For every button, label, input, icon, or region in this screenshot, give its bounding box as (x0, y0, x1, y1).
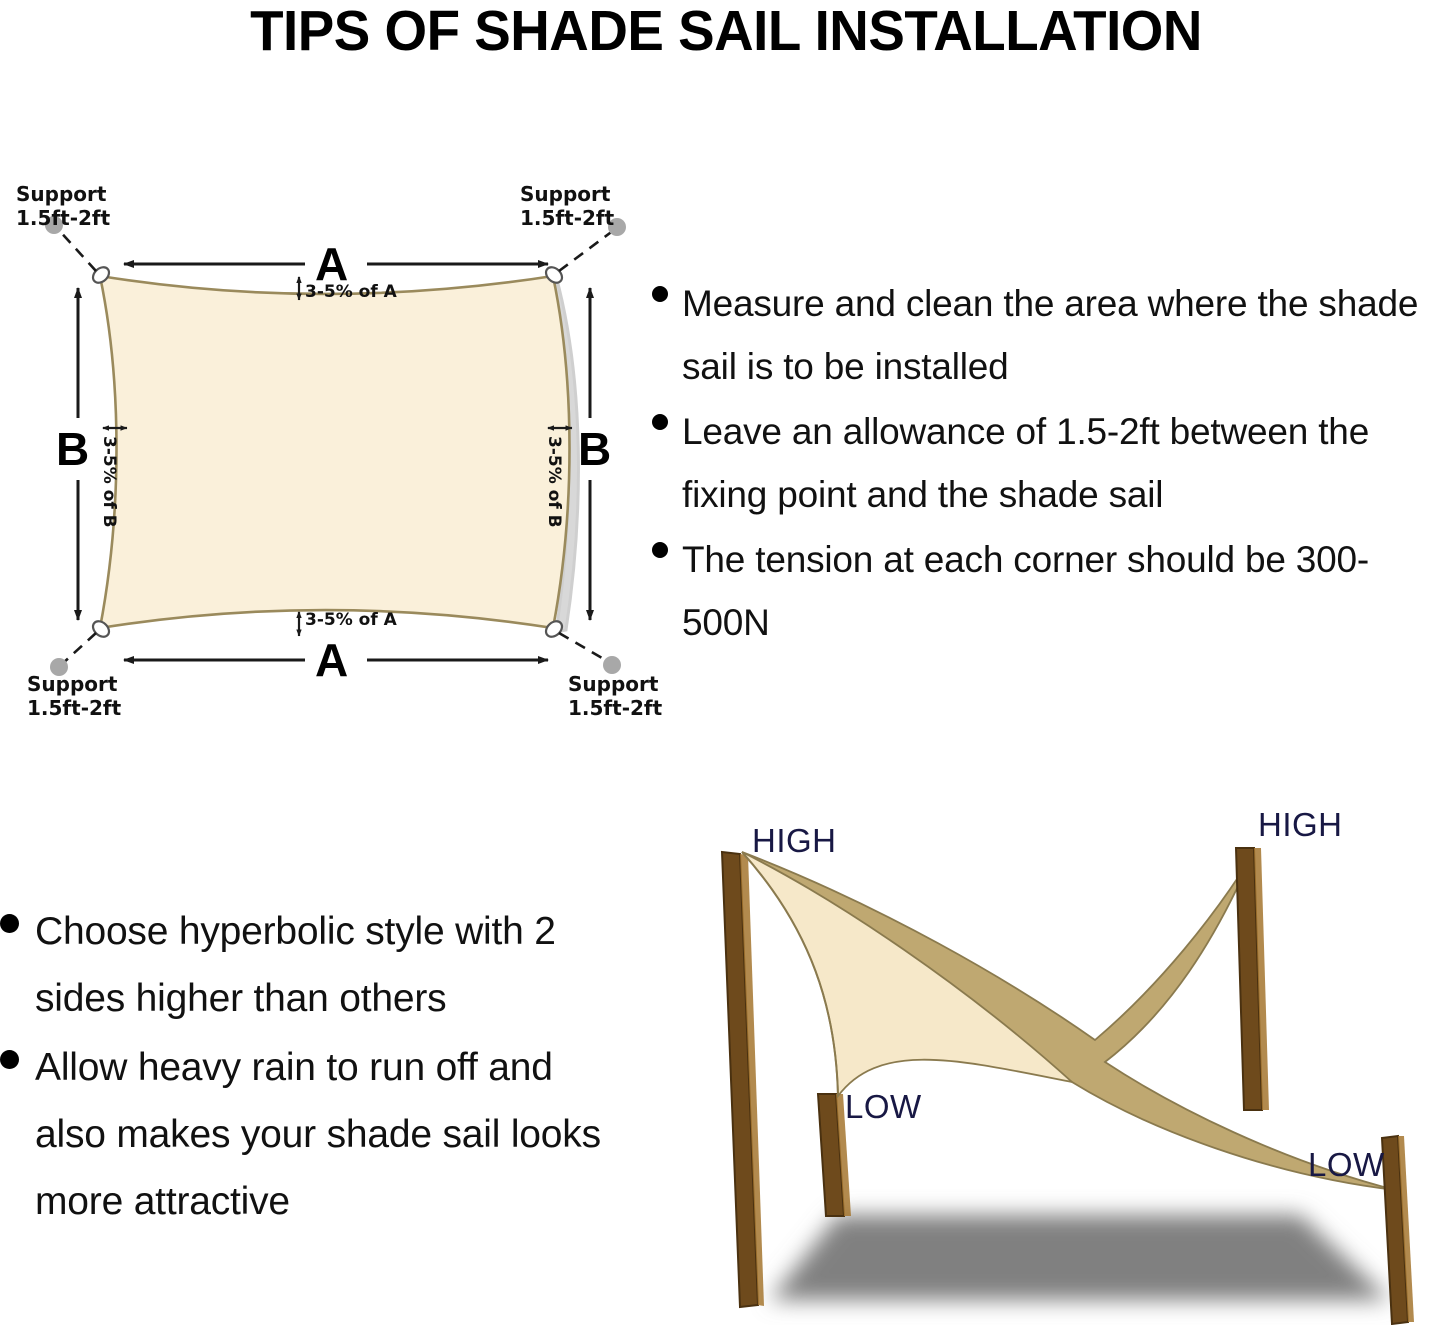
post-high-right (1236, 848, 1269, 1110)
label-high-right: HIGH (1258, 808, 1343, 841)
infographic-page: TIPS OF SHADE SAIL INSTALLATION (0, 0, 1452, 1325)
label-high-left: HIGH (752, 824, 837, 857)
hyperbolic-sail-graphics (0, 0, 1452, 1325)
post-high-left (722, 852, 764, 1307)
ground-shadow (770, 1215, 1390, 1300)
label-low-left: LOW (845, 1090, 922, 1123)
post-low-right (1382, 1136, 1414, 1324)
sail-surface-front (742, 852, 1072, 1096)
label-low-right: LOW (1308, 1148, 1385, 1181)
